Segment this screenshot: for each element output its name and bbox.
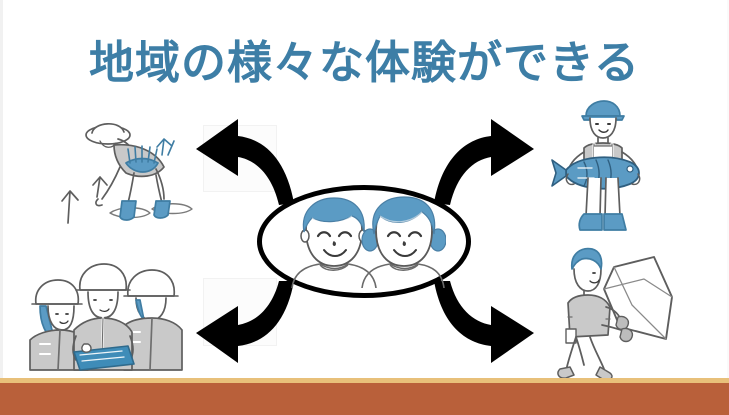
arrow-bottom-right xyxy=(428,281,540,369)
arrow-bottom-left xyxy=(190,281,300,369)
bottom-color-band xyxy=(0,383,729,415)
illustration-fisherman-with-fish xyxy=(548,98,658,243)
page-title: 地域の様々な体験ができる xyxy=(0,36,729,90)
arrow-top-right xyxy=(428,113,540,205)
illustration-worker-carrying-box xyxy=(556,243,681,383)
arrow-top-left xyxy=(190,113,300,205)
illustration-construction-workers xyxy=(10,252,185,372)
slide-canvas: 地域の様々な体験ができる xyxy=(0,0,729,415)
center-children-illustration xyxy=(282,196,446,288)
illustration-rice-planting xyxy=(52,105,202,225)
girl-figure xyxy=(362,197,446,288)
